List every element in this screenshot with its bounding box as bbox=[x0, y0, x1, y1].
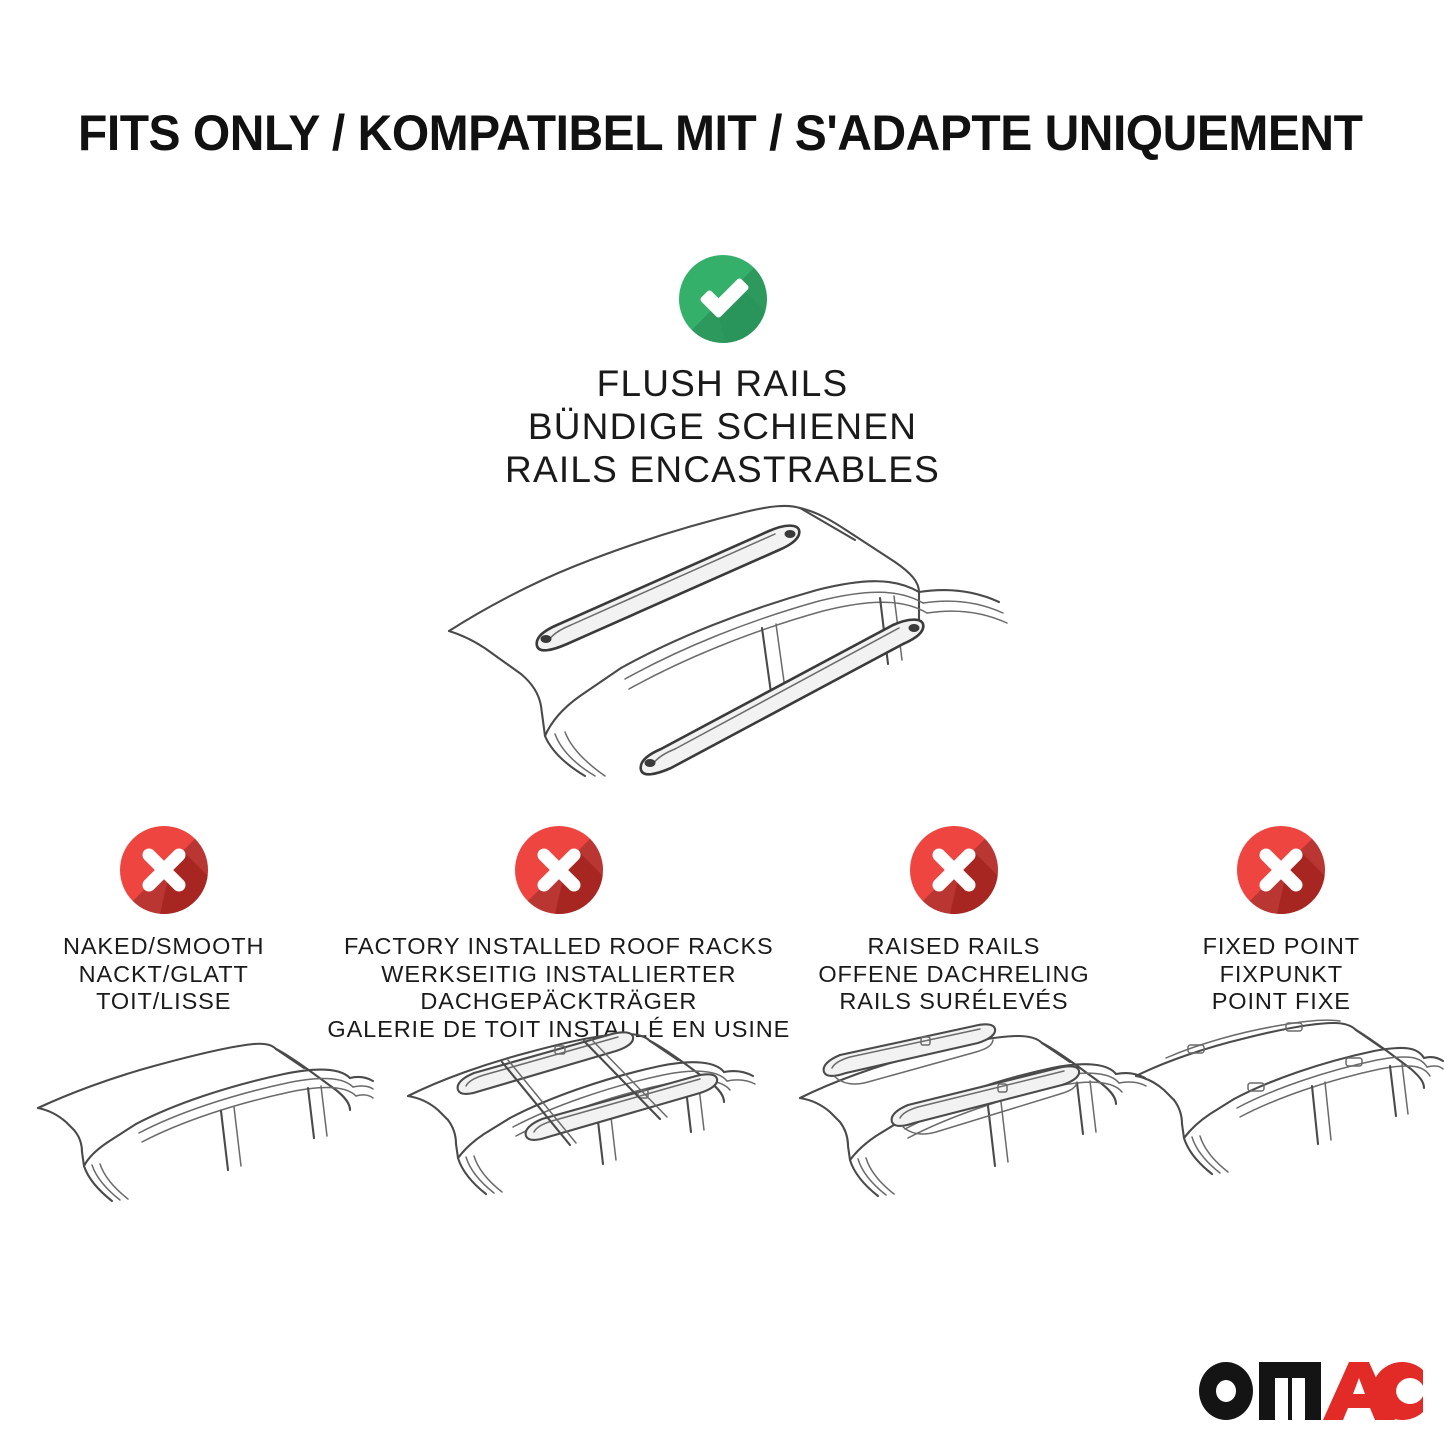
label-de: FIXPUNKT bbox=[1118, 961, 1445, 989]
compatible-label-en: FLUSH RAILS bbox=[0, 362, 1445, 405]
car-roof-with-flush-rails-illustration bbox=[425, 468, 1035, 778]
label-en: FIXED POINT bbox=[1118, 933, 1445, 961]
column-labels: NAKED/SMOOTH NACKT/GLATT TOIT/LISSE bbox=[0, 933, 327, 1016]
car-roof-naked-smooth-illustration bbox=[18, 1018, 373, 1233]
car-roof-fixed-point-illustration bbox=[1128, 1018, 1443, 1233]
incompatible-section: NAKED/SMOOTH NACKT/GLATT TOIT/LISSE FACT… bbox=[0, 826, 1445, 1043]
column-labels: RAISED RAILS OFFENE DACHRELING RAILS SUR… bbox=[790, 933, 1117, 1016]
x-circle-icon bbox=[910, 826, 998, 914]
label-de: OFFENE DACHRELING bbox=[790, 961, 1117, 989]
label-de-2: DACHGEPÄCKTRÄGER bbox=[327, 988, 790, 1016]
incompatible-column-factory-roof-racks: FACTORY INSTALLED ROOF RACKS WERKSEITIG … bbox=[327, 826, 790, 1043]
label-fr: POINT FIXE bbox=[1118, 988, 1445, 1016]
omac-logo bbox=[1193, 1356, 1423, 1422]
x-circle-icon bbox=[515, 826, 603, 914]
label-fr: TOIT/LISSE bbox=[0, 988, 327, 1016]
x-circle-icon bbox=[120, 826, 208, 914]
page-title: FITS ONLY / KOMPATIBEL MIT / S'ADAPTE UN… bbox=[78, 104, 1326, 162]
compatible-section: FLUSH RAILS BÜNDIGE SCHIENEN RAILS ENCAS… bbox=[0, 255, 1445, 491]
label-de: NACKT/GLATT bbox=[0, 961, 327, 989]
label-fr: RAILS SURÉLEVÉS bbox=[790, 988, 1117, 1016]
incompatible-column-raised-rails: RAISED RAILS OFFENE DACHRELING RAILS SUR… bbox=[790, 826, 1117, 1043]
logo-letter-o bbox=[1199, 1362, 1253, 1420]
label-en: FACTORY INSTALLED ROOF RACKS bbox=[327, 933, 790, 961]
check-circle-icon bbox=[679, 255, 767, 343]
column-labels: FIXED POINT FIXPUNKT POINT FIXE bbox=[1118, 933, 1445, 1016]
compatibility-infographic: FITS ONLY / KOMPATIBEL MIT / S'ADAPTE UN… bbox=[0, 0, 1445, 1445]
compatible-label-de: BÜNDIGE SCHIENEN bbox=[0, 405, 1445, 448]
car-roof-raised-rails-illustration bbox=[788, 1018, 1153, 1233]
logo-letter-m bbox=[1259, 1362, 1321, 1420]
car-roof-factory-roof-racks-illustration bbox=[398, 1018, 763, 1233]
x-circle-icon bbox=[1237, 826, 1325, 914]
label-en: NAKED/SMOOTH bbox=[0, 933, 327, 961]
label-de-1: WERKSEITIG INSTALLIERTER bbox=[327, 961, 790, 989]
incompatible-column-naked-smooth: NAKED/SMOOTH NACKT/GLATT TOIT/LISSE bbox=[0, 826, 327, 1043]
incompatible-column-fixed-point: FIXED POINT FIXPUNKT POINT FIXE bbox=[1118, 826, 1445, 1043]
label-en: RAISED RAILS bbox=[790, 933, 1117, 961]
